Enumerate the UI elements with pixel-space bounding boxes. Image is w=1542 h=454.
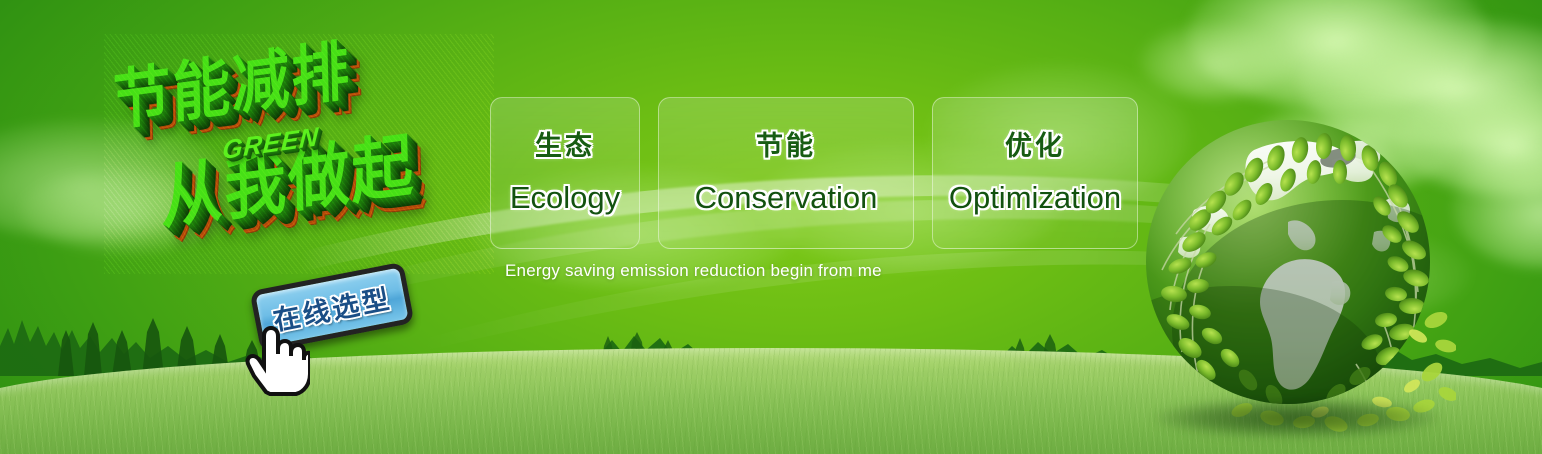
- feature-card-en-label: Conservation: [695, 182, 878, 213]
- globe-graphic: [1136, 114, 1456, 432]
- leafy-earth-globe: [1136, 114, 1456, 432]
- feature-card-list: 生态 Ecology 节能 Conservation 优化 Optimizati…: [490, 97, 1138, 249]
- cloud-icon: [1188, 0, 1488, 110]
- feature-card-conservation[interactable]: 节能 Conservation: [658, 97, 914, 249]
- feature-card-en-label: Optimization: [949, 182, 1121, 213]
- feature-card-optimization[interactable]: 优化 Optimization: [932, 97, 1138, 249]
- feature-card-en-label: Ecology: [510, 182, 620, 213]
- headline-3d: 节能减排 GREEN 从我做起: [104, 34, 494, 274]
- feature-card-cn-label: 生态: [535, 133, 595, 160]
- banner-tagline: Energy saving emission reduction begin f…: [505, 261, 882, 281]
- cloud-icon: [1140, 22, 1290, 100]
- feature-card-cn-label: 优化: [1005, 133, 1065, 160]
- feature-card-ecology[interactable]: 生态 Ecology: [490, 97, 640, 249]
- cloud-icon: [1452, 148, 1542, 268]
- hand-pointer-icon: [240, 318, 310, 396]
- globe-ground-shadow: [1154, 398, 1440, 438]
- feature-card-cn-label: 节能: [756, 133, 816, 160]
- hero-banner: 节能减排 GREEN 从我做起 在线选型 生态 Ecology 节能 Conse…: [0, 0, 1542, 454]
